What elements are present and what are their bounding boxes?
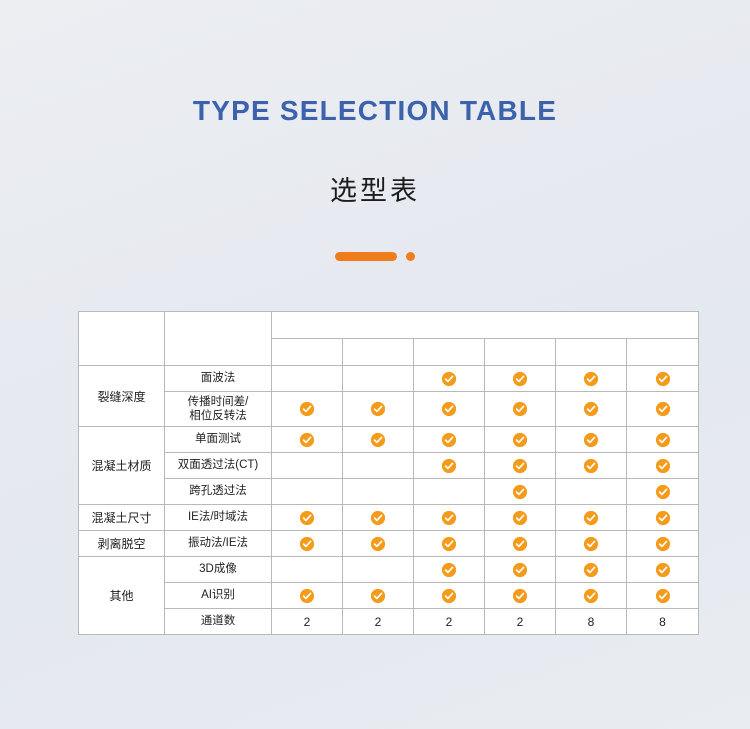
check-circle-icon bbox=[656, 459, 670, 473]
support-cell-r bbox=[556, 505, 627, 531]
method-cell: AI识别 bbox=[165, 583, 272, 609]
support-cell-sa bbox=[485, 392, 556, 427]
check-circle-icon bbox=[656, 372, 670, 386]
check-circle-icon bbox=[300, 589, 314, 603]
method-cell: 单面测试 bbox=[165, 427, 272, 453]
support-cell-r bbox=[556, 453, 627, 479]
check-circle-icon bbox=[584, 372, 598, 386]
support-cell-s bbox=[414, 557, 485, 583]
check-circle-icon bbox=[513, 372, 527, 386]
channel-count-cell-pa: 2 bbox=[272, 609, 343, 635]
method-cell: 通道数 bbox=[165, 609, 272, 635]
support-cell-b bbox=[343, 392, 414, 427]
method-cell: IE法/时域法 bbox=[165, 505, 272, 531]
check-circle-icon bbox=[300, 433, 314, 447]
table-row: AI识别 bbox=[79, 583, 699, 609]
channel-count-cell-b: 2 bbox=[343, 609, 414, 635]
check-circle-icon bbox=[513, 589, 527, 603]
channel-count-cell-ra: 8 bbox=[627, 609, 699, 635]
support-cell-sa bbox=[485, 531, 556, 557]
check-circle-icon bbox=[584, 459, 598, 473]
table-body: 裂缝深度面波法传播时间差/相位反转法混凝土材质单面测试双面透过法(CT)跨孔透过… bbox=[79, 366, 699, 635]
type-selection-table: 测试内容 测试方法 混凝土多功能无损检测仪（SCE-MATS） PABSSARR… bbox=[78, 311, 699, 635]
category-cell: 其他 bbox=[79, 557, 165, 635]
support-cell-pa bbox=[272, 366, 343, 392]
support-cell-r bbox=[556, 557, 627, 583]
check-circle-icon bbox=[371, 402, 385, 416]
support-cell-b bbox=[343, 531, 414, 557]
check-circle-icon bbox=[442, 459, 456, 473]
empty-cell-marker bbox=[300, 457, 314, 471]
check-circle-icon bbox=[584, 537, 598, 551]
check-circle-icon bbox=[371, 589, 385, 603]
support-cell-r bbox=[556, 427, 627, 453]
check-circle-icon bbox=[300, 537, 314, 551]
check-circle-icon bbox=[442, 563, 456, 577]
check-circle-icon bbox=[513, 485, 527, 499]
category-cell: 混凝土尺寸 bbox=[79, 505, 165, 531]
check-circle-icon bbox=[442, 372, 456, 386]
method-cell: 跨孔透过法 bbox=[165, 479, 272, 505]
check-circle-icon bbox=[442, 433, 456, 447]
support-cell-s bbox=[414, 479, 485, 505]
support-cell-pa bbox=[272, 427, 343, 453]
check-circle-icon bbox=[584, 402, 598, 416]
check-circle-icon bbox=[442, 511, 456, 525]
check-circle-icon bbox=[513, 511, 527, 525]
col-header-model-r: R bbox=[556, 339, 627, 366]
support-cell-ra bbox=[627, 453, 699, 479]
col-header-model-b: B bbox=[343, 339, 414, 366]
method-cell: 传播时间差/相位反转法 bbox=[165, 392, 272, 427]
support-cell-ra bbox=[627, 366, 699, 392]
empty-cell-marker bbox=[300, 561, 314, 575]
method-cell: 双面透过法(CT) bbox=[165, 453, 272, 479]
support-cell-pa bbox=[272, 505, 343, 531]
check-circle-icon bbox=[656, 511, 670, 525]
support-cell-b bbox=[343, 366, 414, 392]
support-cell-ra bbox=[627, 531, 699, 557]
check-circle-icon bbox=[656, 563, 670, 577]
support-cell-b bbox=[343, 479, 414, 505]
support-cell-sa bbox=[485, 479, 556, 505]
channel-count-cell-r: 8 bbox=[556, 609, 627, 635]
table-row: 传播时间差/相位反转法 bbox=[79, 392, 699, 427]
check-circle-icon bbox=[371, 511, 385, 525]
support-cell-b bbox=[343, 427, 414, 453]
check-circle-icon bbox=[656, 485, 670, 499]
table-row: 双面透过法(CT) bbox=[79, 453, 699, 479]
table-row: 通道数222288 bbox=[79, 609, 699, 635]
support-cell-ra bbox=[627, 505, 699, 531]
support-cell-b bbox=[343, 583, 414, 609]
support-cell-s bbox=[414, 583, 485, 609]
support-cell-r bbox=[556, 531, 627, 557]
col-header-group-instrument: 混凝土多功能无损检测仪（SCE-MATS） bbox=[272, 312, 699, 339]
support-cell-pa bbox=[272, 531, 343, 557]
check-circle-icon bbox=[656, 589, 670, 603]
support-cell-pa bbox=[272, 557, 343, 583]
support-cell-ra bbox=[627, 479, 699, 505]
empty-cell-marker bbox=[300, 370, 314, 384]
table-row: 裂缝深度面波法 bbox=[79, 366, 699, 392]
support-cell-sa bbox=[485, 557, 556, 583]
check-circle-icon bbox=[513, 537, 527, 551]
empty-cell-marker bbox=[584, 483, 598, 497]
support-cell-pa bbox=[272, 479, 343, 505]
support-cell-b bbox=[343, 505, 414, 531]
support-cell-ra bbox=[627, 557, 699, 583]
empty-cell-marker bbox=[371, 370, 385, 384]
check-circle-icon bbox=[442, 589, 456, 603]
check-circle-icon bbox=[442, 537, 456, 551]
support-cell-ra bbox=[627, 427, 699, 453]
support-cell-sa bbox=[485, 366, 556, 392]
check-circle-icon bbox=[656, 433, 670, 447]
check-circle-icon bbox=[656, 537, 670, 551]
support-cell-sa bbox=[485, 427, 556, 453]
support-cell-pa bbox=[272, 392, 343, 427]
support-cell-r bbox=[556, 583, 627, 609]
selection-table-wrapper: 测试内容 测试方法 混凝土多功能无损检测仪（SCE-MATS） PABSSARR… bbox=[78, 311, 698, 635]
page-title-cn: 选型表 bbox=[0, 127, 750, 208]
page-header: TYPE SELECTION TABLE 选型表 bbox=[0, 0, 750, 261]
support-cell-pa bbox=[272, 453, 343, 479]
support-cell-s bbox=[414, 531, 485, 557]
support-cell-pa bbox=[272, 583, 343, 609]
check-circle-icon bbox=[300, 402, 314, 416]
empty-cell-marker bbox=[371, 483, 385, 497]
col-header-model-ra: RA bbox=[627, 339, 699, 366]
check-circle-icon bbox=[371, 433, 385, 447]
page-title-en: TYPE SELECTION TABLE bbox=[0, 96, 750, 127]
support-cell-sa bbox=[485, 583, 556, 609]
table-row: 混凝土尺寸IE法/时域法 bbox=[79, 505, 699, 531]
support-cell-b bbox=[343, 557, 414, 583]
check-circle-icon bbox=[300, 511, 314, 525]
support-cell-sa bbox=[485, 453, 556, 479]
check-circle-icon bbox=[656, 402, 670, 416]
accent-bar bbox=[335, 252, 397, 261]
col-header-test-content: 测试内容 bbox=[79, 312, 165, 366]
support-cell-s bbox=[414, 453, 485, 479]
support-cell-r bbox=[556, 366, 627, 392]
col-header-model-s: S bbox=[414, 339, 485, 366]
check-circle-icon bbox=[584, 563, 598, 577]
col-header-model-pa: PA bbox=[272, 339, 343, 366]
table-head-row-1: 测试内容 测试方法 混凝土多功能无损检测仪（SCE-MATS） bbox=[79, 312, 699, 339]
support-cell-s bbox=[414, 505, 485, 531]
method-cell: 振动法/IE法 bbox=[165, 531, 272, 557]
channel-count-cell-sa: 2 bbox=[485, 609, 556, 635]
col-header-test-method: 测试方法 bbox=[165, 312, 272, 366]
table-row: 跨孔透过法 bbox=[79, 479, 699, 505]
table-row: 混凝土材质单面测试 bbox=[79, 427, 699, 453]
support-cell-sa bbox=[485, 505, 556, 531]
support-cell-ra bbox=[627, 392, 699, 427]
accent-dot bbox=[406, 252, 415, 261]
check-circle-icon bbox=[584, 589, 598, 603]
check-circle-icon bbox=[584, 511, 598, 525]
support-cell-s bbox=[414, 392, 485, 427]
support-cell-s bbox=[414, 427, 485, 453]
category-cell: 裂缝深度 bbox=[79, 366, 165, 427]
check-circle-icon bbox=[371, 537, 385, 551]
method-cell: 面波法 bbox=[165, 366, 272, 392]
table-head: 测试内容 测试方法 混凝土多功能无损检测仪（SCE-MATS） PABSSARR… bbox=[79, 312, 699, 366]
check-circle-icon bbox=[513, 402, 527, 416]
support-cell-r bbox=[556, 392, 627, 427]
category-cell: 混凝土材质 bbox=[79, 427, 165, 505]
empty-cell-marker bbox=[442, 483, 456, 497]
empty-cell-marker bbox=[371, 561, 385, 575]
check-circle-icon bbox=[513, 433, 527, 447]
support-cell-b bbox=[343, 453, 414, 479]
empty-cell-marker bbox=[371, 457, 385, 471]
accent-divider bbox=[0, 208, 750, 261]
check-circle-icon bbox=[513, 459, 527, 473]
check-circle-icon bbox=[584, 433, 598, 447]
empty-cell-marker bbox=[300, 483, 314, 497]
support-cell-r bbox=[556, 479, 627, 505]
col-header-model-sa: SA bbox=[485, 339, 556, 366]
category-cell: 剥离脱空 bbox=[79, 531, 165, 557]
table-row: 其他3D成像 bbox=[79, 557, 699, 583]
check-circle-icon bbox=[513, 563, 527, 577]
table-row: 剥离脱空振动法/IE法 bbox=[79, 531, 699, 557]
method-cell: 3D成像 bbox=[165, 557, 272, 583]
support-cell-s bbox=[414, 366, 485, 392]
channel-count-cell-s: 2 bbox=[414, 609, 485, 635]
check-circle-icon bbox=[442, 402, 456, 416]
support-cell-ra bbox=[627, 583, 699, 609]
